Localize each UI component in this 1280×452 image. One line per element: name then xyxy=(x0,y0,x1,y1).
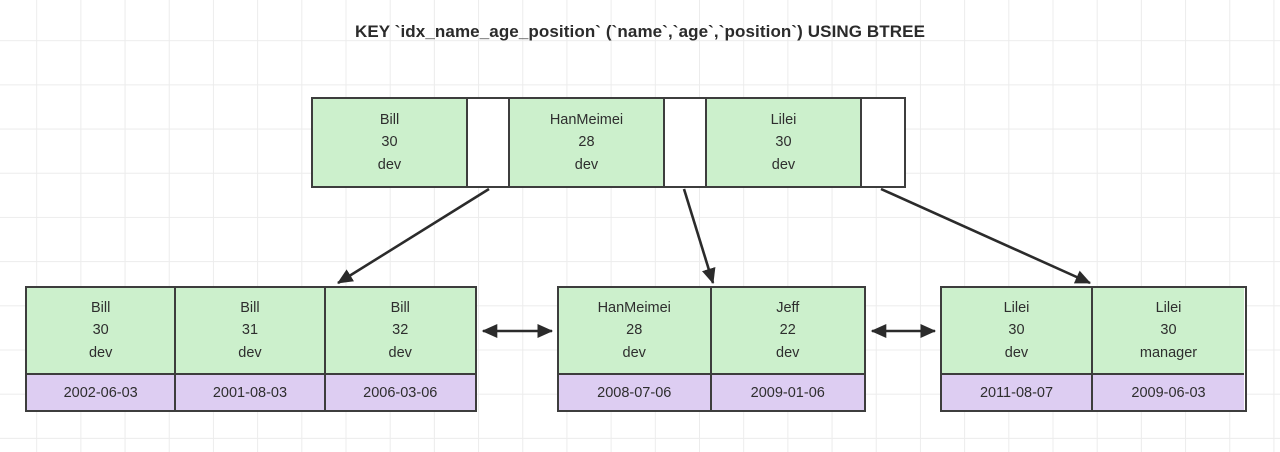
root-pointer-cell-0 xyxy=(468,99,510,186)
root-pointer-cell-1 xyxy=(665,99,707,186)
root-key-cell-0: Bill 30 dev xyxy=(313,99,468,186)
leaf-3-key-1-position: manager xyxy=(1140,342,1197,364)
leaf-1-key-0-position: dev xyxy=(89,342,112,364)
root-key-1-age: 28 xyxy=(578,131,594,153)
root-key-cell-2: Lilei 30 dev xyxy=(707,99,862,186)
leaf-2-key-0: HanMeimei 28 dev xyxy=(559,288,710,375)
leaf-1-data-2: 2006-03-06 xyxy=(326,375,475,410)
root-key-cell-1: HanMeimei 28 dev xyxy=(510,99,665,186)
connector-root-to-leaf-1 xyxy=(338,189,489,283)
leaf-3-data-1: 2009-06-03 xyxy=(1093,375,1244,410)
leaf-3-key-0-age: 30 xyxy=(1008,319,1024,341)
leaf-2-key-0-position: dev xyxy=(623,342,646,364)
root-key-2-name: Lilei xyxy=(771,109,797,131)
leaf-1-data-0: 2002-06-03 xyxy=(27,375,174,410)
leaf-1-entry-0: Bill 30 dev 2002-06-03 xyxy=(27,288,176,410)
leaf-3-key-1-name: Lilei xyxy=(1156,297,1182,319)
leaf-1-key-2-position: dev xyxy=(389,342,412,364)
root-node: Bill 30 dev HanMeimei 28 dev Lilei 30 de… xyxy=(311,97,906,188)
leaf-2-key-1-position: dev xyxy=(776,342,799,364)
leaf-2-data-0: 2008-07-06 xyxy=(559,375,710,410)
leaf-3-key-0-name: Lilei xyxy=(1004,297,1030,319)
leaf-1-key-1-name: Bill xyxy=(240,297,259,319)
leaf-2-key-0-name: HanMeimei xyxy=(598,297,671,319)
root-key-0-name: Bill xyxy=(380,109,399,131)
leaf-1-key-0: Bill 30 dev xyxy=(27,288,174,375)
root-key-2-position: dev xyxy=(772,154,795,176)
leaf-2-data-1: 2009-01-06 xyxy=(712,375,865,410)
btree-diagram-canvas: KEY `idx_name_age_position` (`name`,`age… xyxy=(0,0,1280,452)
leaf-1-key-2-name: Bill xyxy=(391,297,410,319)
leaf-node-3: Lilei 30 dev 2011-08-07 Lilei 30 manager… xyxy=(940,286,1247,412)
root-pointer-cell-2 xyxy=(862,99,904,186)
leaf-3-key-1: Lilei 30 manager xyxy=(1093,288,1244,375)
leaf-1-data-1: 2001-08-03 xyxy=(176,375,323,410)
leaf-2-key-1-name: Jeff xyxy=(776,297,799,319)
leaf-1-key-0-age: 30 xyxy=(93,319,109,341)
leaf-2-entry-0: HanMeimei 28 dev 2008-07-06 xyxy=(559,288,712,410)
leaf-3-key-0-position: dev xyxy=(1005,342,1028,364)
leaf-2-key-0-age: 28 xyxy=(626,319,642,341)
leaf-1-key-0-name: Bill xyxy=(91,297,110,319)
root-key-1-position: dev xyxy=(575,154,598,176)
leaf-2-entry-1: Jeff 22 dev 2009-01-06 xyxy=(712,288,865,410)
connector-root-to-leaf-2 xyxy=(684,189,713,283)
leaf-3-entry-0: Lilei 30 dev 2011-08-07 xyxy=(942,288,1093,410)
leaf-node-1: Bill 30 dev 2002-06-03 Bill 31 dev 2001-… xyxy=(25,286,477,412)
leaf-2-key-1: Jeff 22 dev xyxy=(712,288,865,375)
leaf-1-key-2: Bill 32 dev xyxy=(326,288,475,375)
leaf-1-entry-2: Bill 32 dev 2006-03-06 xyxy=(326,288,475,410)
leaf-1-key-2-age: 32 xyxy=(392,319,408,341)
leaf-3-entry-1: Lilei 30 manager 2009-06-03 xyxy=(1093,288,1244,410)
root-key-1-name: HanMeimei xyxy=(550,109,623,131)
root-key-0-age: 30 xyxy=(381,131,397,153)
leaf-2-key-1-age: 22 xyxy=(780,319,796,341)
leaf-3-data-0: 2011-08-07 xyxy=(942,375,1091,410)
root-key-2-age: 30 xyxy=(775,131,791,153)
connector-root-to-leaf-3 xyxy=(881,189,1090,283)
leaf-1-entry-1: Bill 31 dev 2001-08-03 xyxy=(176,288,325,410)
leaf-1-key-1-age: 31 xyxy=(242,319,258,341)
leaf-3-key-0: Lilei 30 dev xyxy=(942,288,1091,375)
page-title: KEY `idx_name_age_position` (`name`,`age… xyxy=(0,22,1280,42)
root-key-0-position: dev xyxy=(378,154,401,176)
leaf-1-key-1-position: dev xyxy=(238,342,261,364)
leaf-1-key-1: Bill 31 dev xyxy=(176,288,323,375)
leaf-node-2: HanMeimei 28 dev 2008-07-06 Jeff 22 dev … xyxy=(557,286,866,412)
leaf-3-key-1-age: 30 xyxy=(1160,319,1176,341)
